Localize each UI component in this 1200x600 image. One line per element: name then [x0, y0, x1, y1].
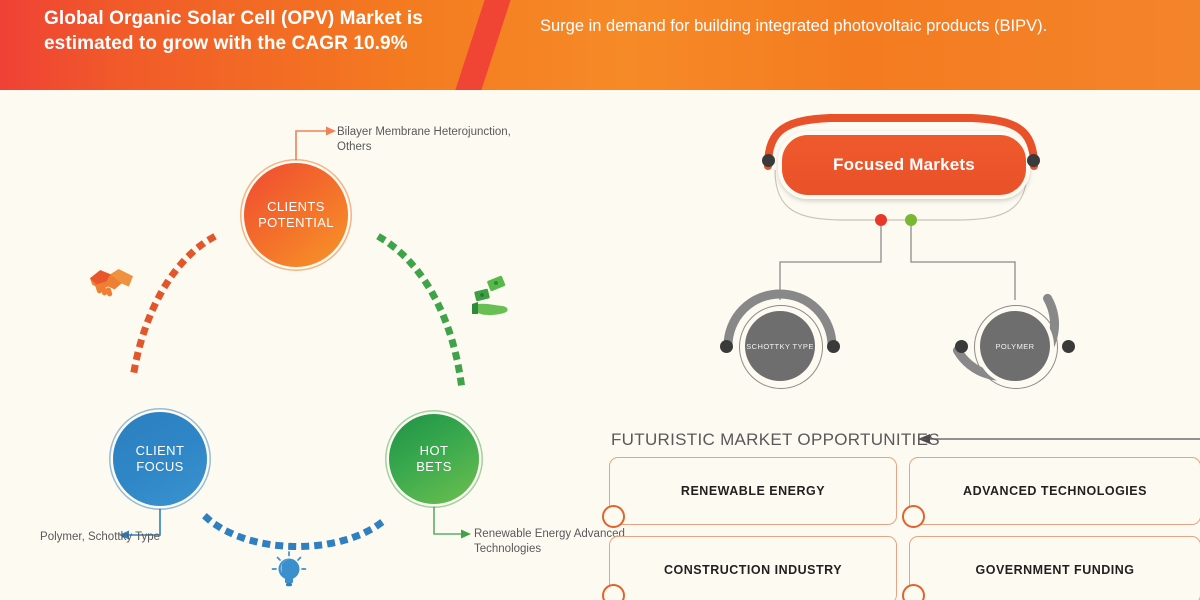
bubble-label-line2: FOCUS — [136, 459, 185, 475]
focused-markets-label: Focused Markets — [833, 155, 975, 175]
callout-client-focus: Polymer, Schottky Type — [30, 530, 160, 545]
opportunity-marker — [602, 505, 625, 528]
bubble-clients-potential[interactable]: CLIENTS POTENTIAL — [244, 163, 348, 267]
header-banner: Global Organic Solar Cell (OPV) Market i… — [0, 0, 1200, 90]
node-polymer[interactable]: POLYMER — [969, 300, 1061, 392]
bubble-hot-bets[interactable]: HOT BETS — [389, 414, 479, 504]
node-label: SCHOTTKY TYPE — [746, 342, 813, 351]
node-schottky-type[interactable]: SCHOTTKY TYPE — [734, 300, 826, 392]
node-label: POLYMER — [996, 342, 1035, 351]
node-disc: SCHOTTKY TYPE — [745, 311, 815, 381]
bubble-label-line2: BETS — [416, 459, 452, 475]
red-connector-dot — [875, 214, 887, 226]
node-disc: POLYMER — [980, 311, 1050, 381]
header-title-block: Global Organic Solar Cell (OPV) Market i… — [44, 6, 464, 56]
green-connector-dot — [905, 214, 917, 226]
opportunity-marker — [902, 505, 925, 528]
focused-markets-group: Focused Markets — [758, 118, 1044, 210]
focused-markets-right-dot — [1027, 154, 1040, 167]
opportunities-title: FUTURISTIC MARKET OPPORTUNITIES — [611, 430, 940, 450]
infographic-root: Global Organic Solar Cell (OPV) Market i… — [0, 0, 1200, 600]
bubble-label-line1: CLIENTS — [258, 199, 334, 215]
bubble-label-line1: HOT — [416, 443, 452, 459]
header-subtitle: Surge in demand for building integrated … — [540, 14, 1160, 38]
node-left-dot — [955, 340, 968, 353]
callout-clients-potential: Bilayer Membrane Heterojunction, Others — [337, 125, 537, 155]
node-right-dot — [1062, 340, 1075, 353]
opportunity-label: CONSTRUCTION INDUSTRY — [664, 563, 842, 577]
node-right-dot — [827, 340, 840, 353]
opportunity-label: GOVERNMENT FUNDING — [976, 563, 1135, 577]
bubble-label-line2: POTENTIAL — [258, 215, 334, 231]
page-title: Global Organic Solar Cell (OPV) Market i… — [44, 6, 464, 56]
opportunity-card[interactable]: GOVERNMENT FUNDING — [909, 536, 1200, 600]
bubble-label-line1: CLIENT — [136, 443, 185, 459]
bubble-label: HOT BETS — [416, 443, 452, 475]
header-subtitle-block: Surge in demand for building integrated … — [540, 14, 1160, 38]
opportunity-card[interactable]: CONSTRUCTION INDUSTRY — [609, 536, 897, 600]
bubble-label: CLIENTS POTENTIAL — [258, 199, 334, 231]
opportunity-marker — [602, 584, 625, 600]
opportunity-marker — [902, 584, 925, 600]
focused-markets-left-dot — [762, 154, 775, 167]
bubble-client-focus[interactable]: CLIENT FOCUS — [113, 412, 207, 506]
bubble-label: CLIENT FOCUS — [136, 443, 185, 475]
node-left-dot — [720, 340, 733, 353]
opportunity-label: RENEWABLE ENERGY — [681, 484, 825, 498]
focused-markets-pill[interactable]: Focused Markets — [778, 131, 1030, 199]
opportunity-card[interactable]: RENEWABLE ENERGY — [609, 457, 897, 525]
opportunity-card[interactable]: ADVANCED TECHNOLOGIES — [909, 457, 1200, 525]
opportunity-label: ADVANCED TECHNOLOGIES — [963, 484, 1147, 498]
